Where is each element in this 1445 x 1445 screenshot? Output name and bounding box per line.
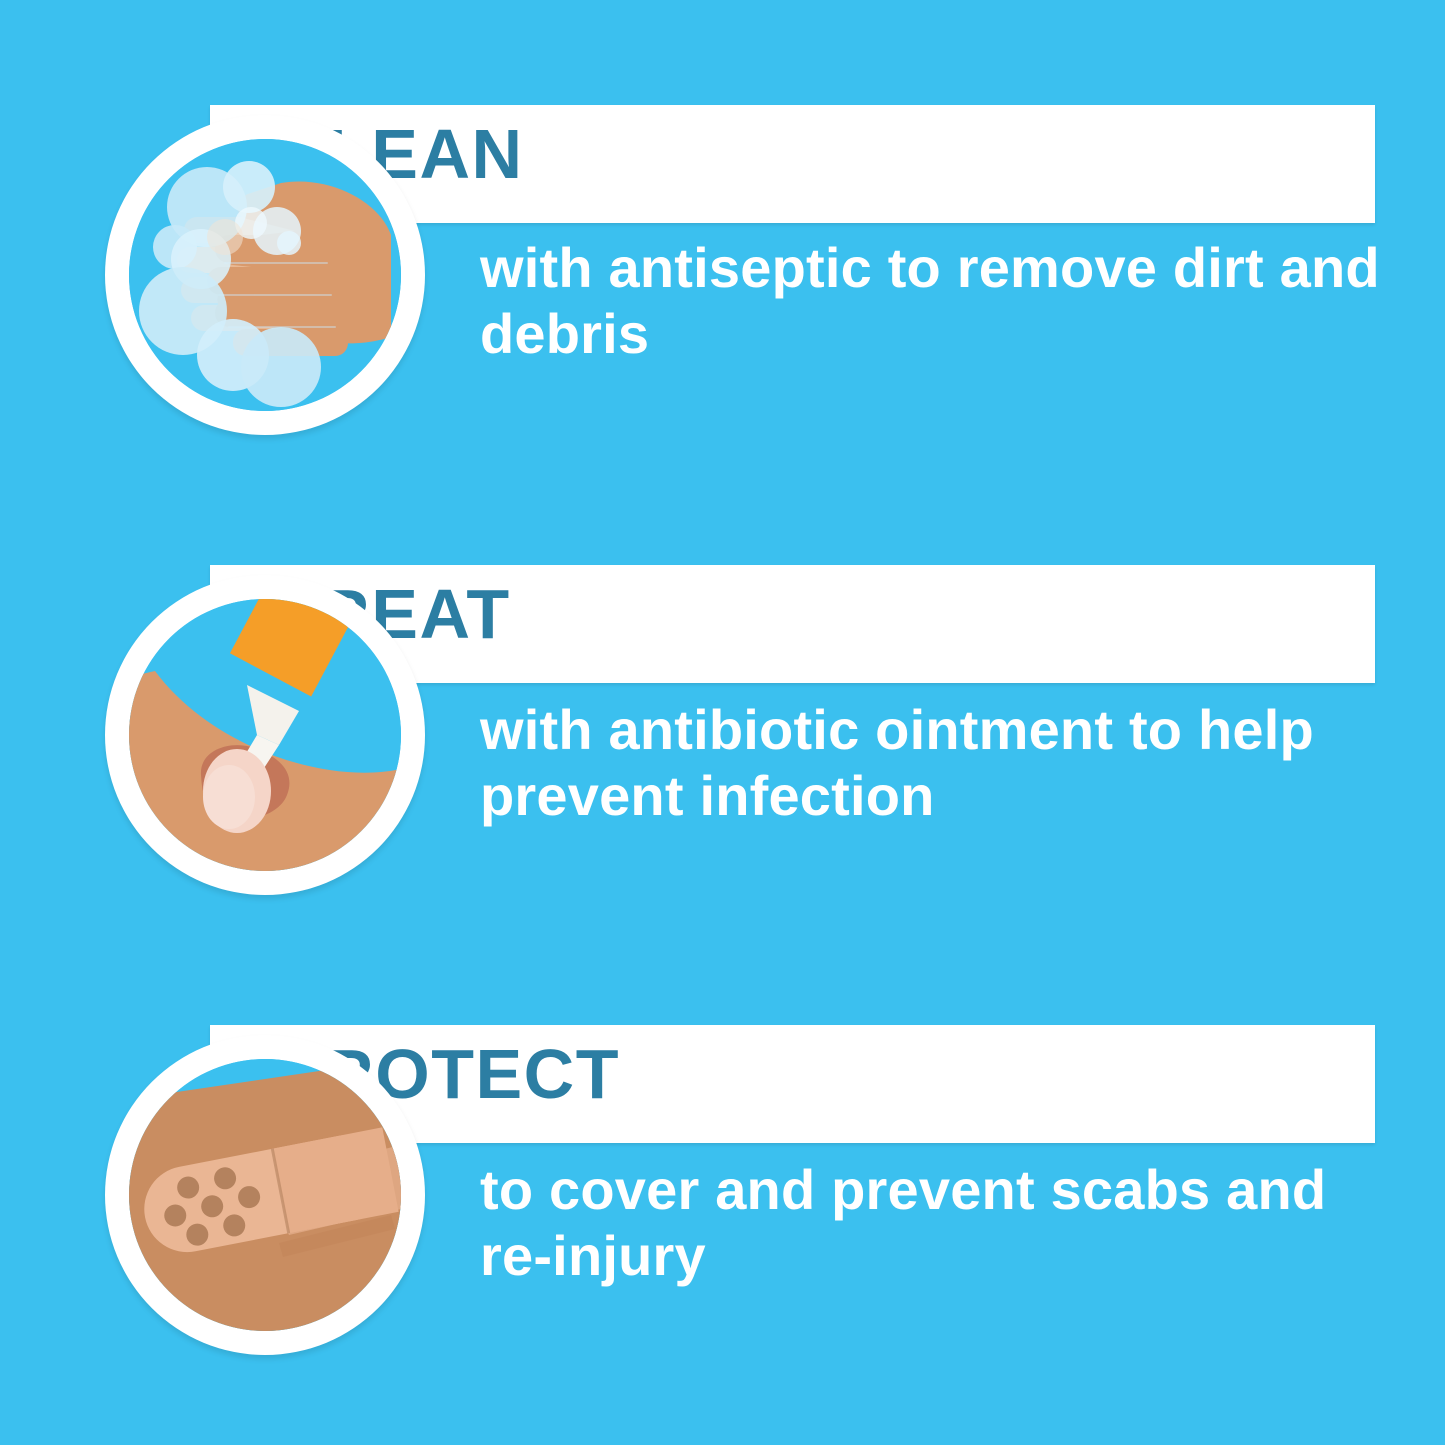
step-body-treat: with antibiotic ointment to help prevent… bbox=[480, 697, 1380, 829]
ointment-tube-on-wound-icon bbox=[129, 599, 401, 871]
washing-hands-with-soap-icon bbox=[129, 139, 401, 411]
infographic-canvas: CLEAN bbox=[0, 0, 1445, 1445]
icon-circle-clean bbox=[105, 115, 425, 435]
step-treat: TREAT bbox=[0, 555, 1445, 915]
step-body-protect: to cover and prevent scabs and re-injury bbox=[480, 1157, 1380, 1289]
adhesive-bandage-on-skin-icon bbox=[129, 1059, 401, 1331]
icon-circle-protect bbox=[105, 1035, 425, 1355]
step-body-clean: with antiseptic to remove dirt and debri… bbox=[480, 235, 1380, 367]
step-clean: CLEAN bbox=[0, 95, 1445, 455]
icon-circle-treat bbox=[105, 575, 425, 895]
step-protect: PROTECT bbox=[0, 1015, 1445, 1375]
